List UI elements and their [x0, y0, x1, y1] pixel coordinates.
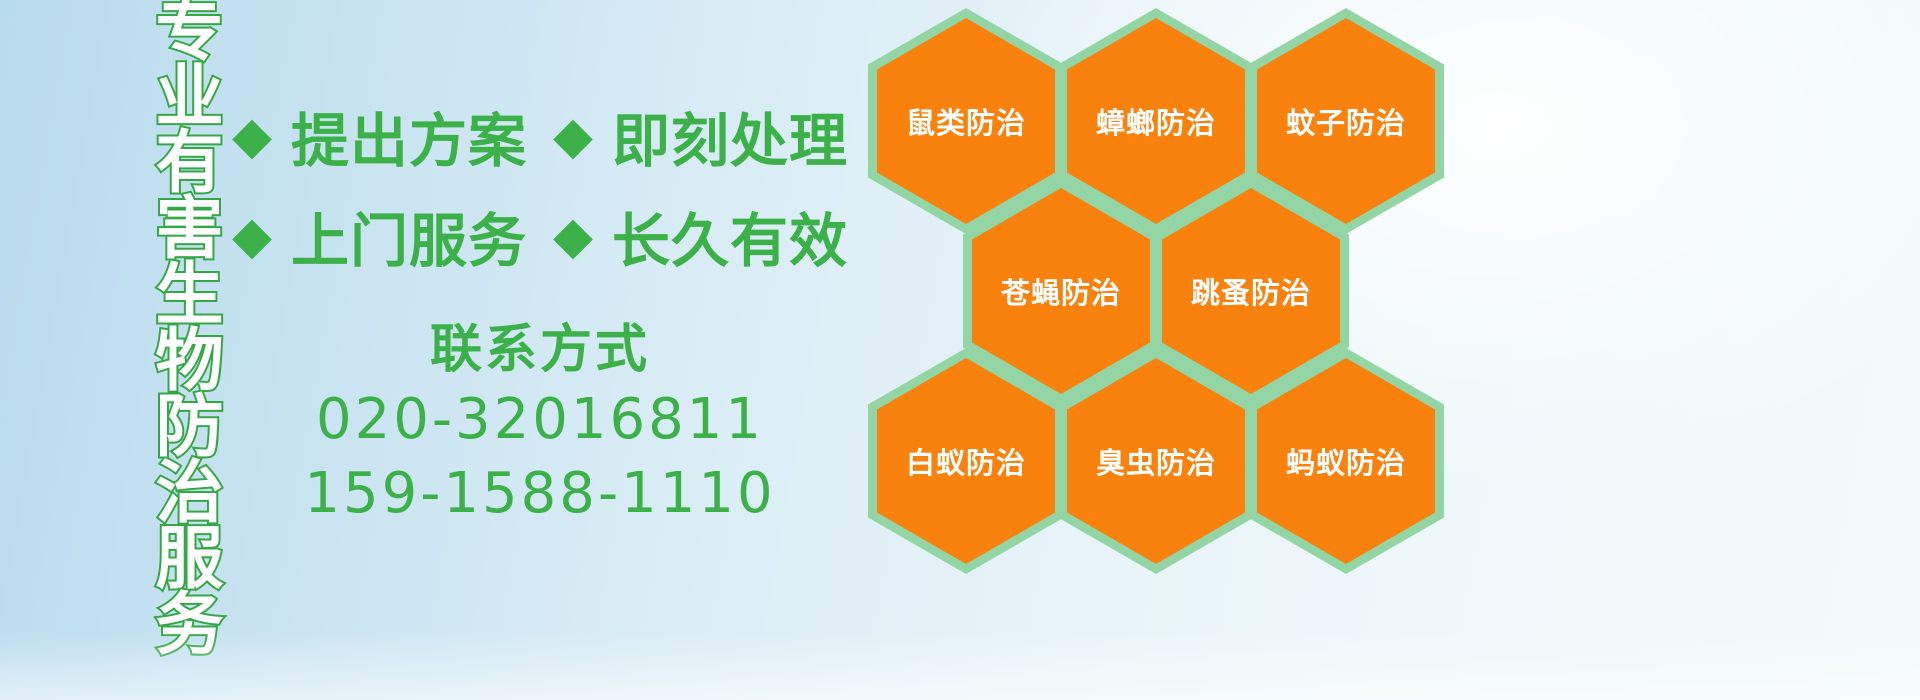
feature-label: 即刻处理	[612, 94, 848, 178]
feature-row: ◆ 上门服务 ◆ 长久有效	[232, 186, 848, 286]
feature-label: 提出方案	[291, 94, 527, 178]
feature-label: 长久有效	[612, 194, 848, 278]
service-label: 蟑螂防治	[1096, 100, 1216, 142]
service-label: 臭虫防治	[1096, 440, 1216, 482]
feature-list: ◆ 提出方案 ◆ 即刻处理 ◆ 上门服务 ◆ 长久有效	[232, 86, 848, 286]
vertical-headline: 专业有害生物防治服务	[108, 0, 216, 654]
phone-number-mobile[interactable]: 159-1588-1110	[240, 457, 840, 531]
diamond-icon: ◆	[553, 210, 594, 262]
diamond-icon: ◆	[232, 210, 273, 262]
service-label: 白蚁防治	[906, 440, 1026, 482]
feature-label: 上门服务	[291, 194, 527, 278]
service-label: 跳蚤防治	[1191, 270, 1311, 312]
service-label: 苍蝇防治	[1001, 270, 1121, 312]
service-honeycomb: 鼠类防治 蟑螂防治 蚊子防治 苍蝇防治 跳蚤防治 白蚁防治 臭虫防治	[860, 0, 1460, 700]
service-label: 鼠类防治	[906, 100, 1026, 142]
phone-number-landline[interactable]: 020-32016811	[240, 383, 840, 457]
service-label: 蚊子防治	[1286, 100, 1406, 142]
feature-row: ◆ 提出方案 ◆ 即刻处理	[232, 86, 848, 186]
diamond-icon: ◆	[553, 110, 594, 162]
promo-banner: 专业有害生物防治服务 ◆ 提出方案 ◆ 即刻处理 ◆ 上门服务 ◆ 长久有效 联…	[0, 0, 1920, 700]
diamond-icon: ◆	[232, 110, 273, 162]
contact-title: 联系方式	[240, 318, 840, 383]
contact-block: 联系方式 020-32016811 159-1588-1110	[240, 318, 840, 531]
service-label: 蚂蚁防治	[1286, 440, 1406, 482]
